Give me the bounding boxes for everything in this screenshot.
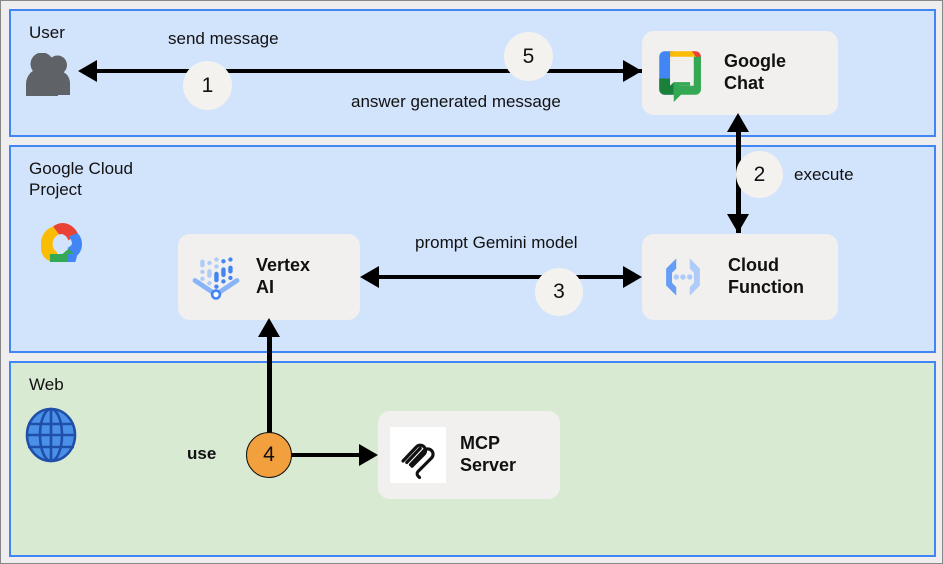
step-badge-5: 5 (504, 32, 553, 81)
globe-icon (25, 407, 77, 463)
node-vertex-ai-label: Vertex AI (256, 255, 310, 298)
edge-vertex-function-arrow-left (360, 266, 379, 288)
edge-user-chat-arrow-left (78, 60, 97, 82)
step-badge-1: 1 (183, 61, 232, 110)
edge-chat-function-arrow-down (727, 214, 749, 233)
node-vertex-ai[interactable]: Vertex AI (178, 234, 360, 320)
edge-vertex-function-arrow-right (623, 266, 642, 288)
edge-label-use: use (187, 444, 216, 464)
edge-vertex-mcp-arrow-up (258, 318, 280, 337)
edge-vertex-mcp-arrow-right (359, 444, 378, 466)
users-icon (23, 53, 79, 97)
edge-user-chat-arrow-right (623, 60, 642, 82)
step-badge-4: 4 (246, 432, 292, 478)
vertex-ai-icon (188, 249, 244, 305)
edge-user-chat-line (97, 69, 642, 73)
zone-user-title: User (29, 23, 65, 44)
node-google-chat-label: Google Chat (724, 51, 786, 94)
zone-web-title: Web (29, 375, 64, 396)
node-cloud-function[interactable]: Cloud Function (642, 234, 838, 320)
node-cloud-function-label: Cloud Function (728, 255, 804, 298)
zone-gcp-title: Google Cloud Project (29, 159, 133, 200)
edge-label-send-message: send message (168, 29, 279, 49)
edge-label-answer-generated-message: answer generated message (351, 92, 561, 112)
step-badge-3: 3 (535, 268, 583, 316)
edge-label-prompt-gemini-model: prompt Gemini model (415, 233, 578, 253)
step-badge-2: 2 (736, 151, 783, 198)
edge-label-execute: execute (794, 165, 854, 185)
edge-vertex-function-line (379, 275, 623, 279)
edge-chat-function-arrow-up (727, 113, 749, 132)
node-mcp-server-label: MCP Server (460, 433, 516, 476)
mcp-icon (390, 427, 446, 483)
edge-vertex-mcp-horizontal-line (289, 453, 367, 457)
google-cloud-icon (29, 217, 95, 273)
node-google-chat[interactable]: Google Chat (642, 31, 838, 115)
node-mcp-server[interactable]: MCP Server (378, 411, 560, 499)
cloud-function-icon (656, 250, 710, 304)
diagram-canvas: User Google Cloud Project Web (0, 0, 943, 564)
google-chat-icon (652, 44, 710, 102)
